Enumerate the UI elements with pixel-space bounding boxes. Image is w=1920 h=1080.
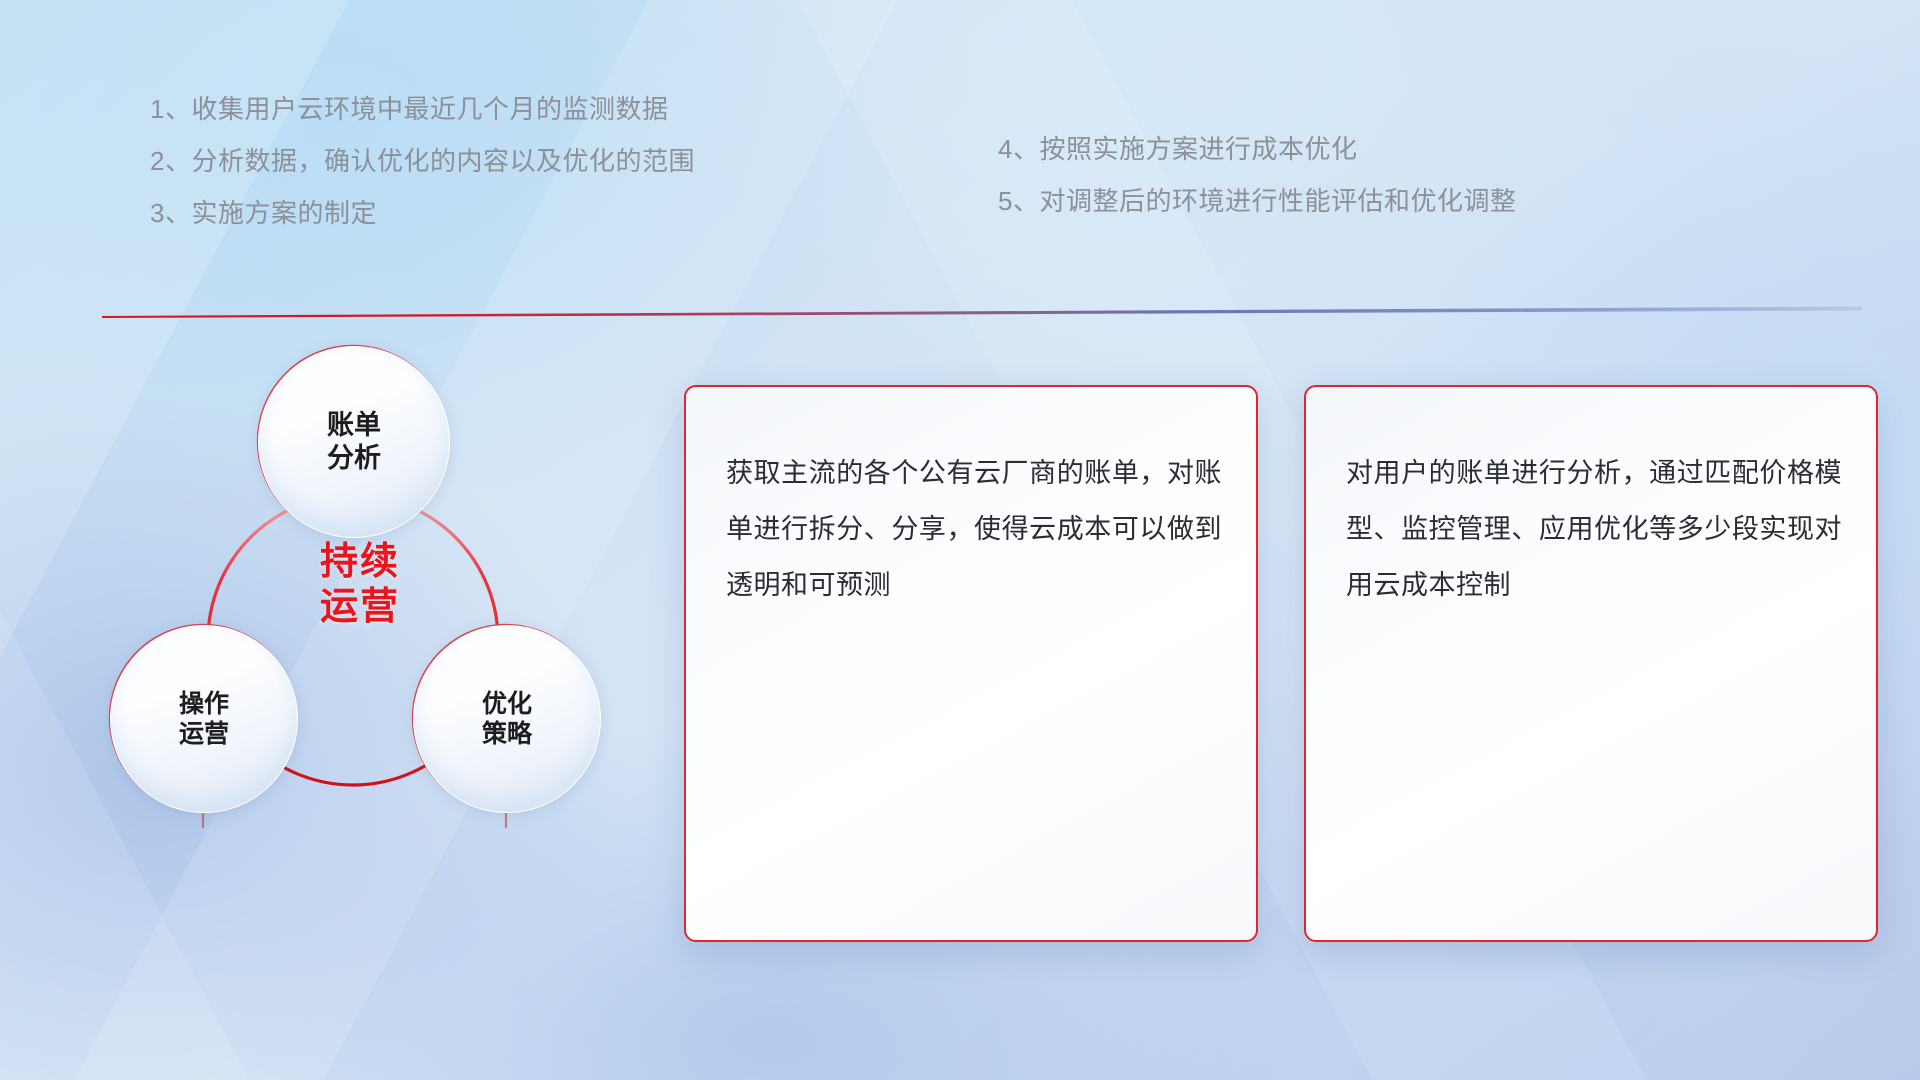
- steps-section: 1、收集用户云环境中最近几个月的监测数据 2、分析数据，确认优化的内容以及优化的…: [0, 96, 1920, 286]
- step-item: 4、按照实施方案进行成本优化: [998, 136, 1516, 162]
- venn-center-label: 持续 运营: [260, 540, 460, 630]
- venn-bubble-label-line1: 操作: [179, 689, 229, 720]
- feature-card-cloud-cost-optimization[interactable]: 对用户的账单进行分析，通过匹配价格模型、监控管理、应用优化等多少段实现对用云成本…: [1304, 385, 1878, 942]
- venn-bubble-label-line1: 账单: [327, 409, 381, 442]
- feature-card-body: 获取主流的各个公有云厂商的账单，对账单进行拆分、分享，使得云成本可以做到透明和可…: [726, 445, 1222, 613]
- feature-card-body: 对用户的账单进行分析，通过匹配价格模型、监控管理、应用优化等多少段实现对用云成本…: [1346, 445, 1842, 613]
- step-item: 1、收集用户云环境中最近几个月的监测数据: [150, 96, 695, 122]
- steps-column-right: 4、按照实施方案进行成本优化 5、对调整后的环境进行性能评估和优化调整: [998, 136, 1516, 240]
- section-divider: [102, 300, 1862, 318]
- venn-diagram: 账单 分析 操作 运营 优化 策略 持续 运营: [100, 350, 620, 950]
- venn-bubble-label-line2: 分析: [327, 442, 381, 475]
- venn-bubble-bill-analysis[interactable]: 账单 分析: [258, 346, 450, 538]
- venn-center-label-line2: 运营: [260, 585, 460, 630]
- venn-bubble-label-line2: 策略: [482, 719, 532, 750]
- step-item: 3、实施方案的制定: [150, 200, 695, 226]
- slide-canvas: 1、收集用户云环境中最近几个月的监测数据 2、分析数据，确认优化的内容以及优化的…: [0, 0, 1920, 1080]
- venn-center-label-line1: 持续: [260, 540, 460, 585]
- venn-bubble-operation[interactable]: 操作 运营: [110, 625, 298, 813]
- venn-bubble-optimization-strategy[interactable]: 优化 策略: [413, 625, 601, 813]
- feature-card-multi-cloud-bill-platform[interactable]: 获取主流的各个公有云厂商的账单，对账单进行拆分、分享，使得云成本可以做到透明和可…: [684, 385, 1258, 942]
- step-item: 2、分析数据，确认优化的内容以及优化的范围: [150, 148, 695, 174]
- venn-bubble-label-line1: 优化: [482, 689, 532, 720]
- steps-column-left: 1、收集用户云环境中最近几个月的监测数据 2、分析数据，确认优化的内容以及优化的…: [150, 96, 695, 252]
- step-item: 5、对调整后的环境进行性能评估和优化调整: [998, 188, 1516, 214]
- venn-bubble-label-line2: 运营: [179, 719, 229, 750]
